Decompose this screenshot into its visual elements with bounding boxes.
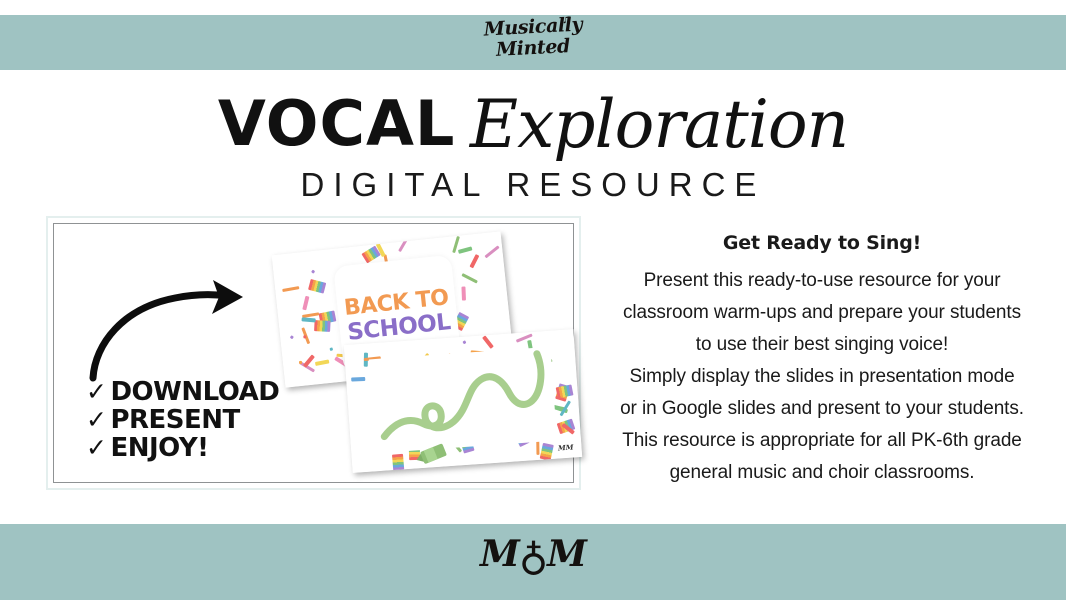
- checklist-label-download: DOWNLOAD: [110, 377, 279, 407]
- checklist-label-enjoy: ENJOY!: [110, 433, 208, 463]
- list-item: ✓DOWNLOAD: [86, 378, 279, 406]
- check-icon: ✓: [86, 433, 106, 462]
- copy-paragraph-2-line-4: general music and choir classrooms.: [604, 457, 1040, 489]
- monogram-left-m: M: [480, 533, 519, 575]
- list-item: ✓PRESENT: [86, 406, 279, 434]
- copy-heading: Get Ready to Sing!: [604, 232, 1040, 254]
- copy-paragraph-2-line-2: or in Google slides and present to your …: [604, 393, 1040, 425]
- list-item: ✓ENJOY!: [86, 434, 279, 462]
- title-bold-word: VOCAL: [218, 87, 456, 160]
- brand-monogram-bottom: M♁M: [0, 536, 1066, 577]
- treble-clef-icon: ♁: [519, 533, 547, 580]
- page-title: VOCAL Exploration: [0, 92, 1066, 158]
- slide-canvas: [369, 347, 557, 453]
- copy-paragraph-1-line-1: Present this ready-to-use resource for y…: [604, 265, 1040, 297]
- check-icon: ✓: [86, 405, 106, 434]
- monogram-right-m: M: [547, 533, 586, 575]
- feature-checklist: ✓DOWNLOAD ✓PRESENT ✓ENJOY!: [86, 378, 279, 462]
- slide-mockup-front: MM: [344, 329, 582, 473]
- page-subtitle: DIGITAL RESOURCE: [0, 168, 1066, 201]
- copy-paragraph-1-line-2: classroom warm-ups and prepare your stud…: [604, 297, 1040, 329]
- description-block: Get Ready to Sing! Present this ready-to…: [604, 232, 1040, 489]
- slide-signature: MM: [558, 442, 574, 452]
- check-icon: ✓: [86, 377, 106, 406]
- curved-arrow-icon: [85, 278, 255, 383]
- copy-paragraph-2-line-3: This resource is appropriate for all PK-…: [604, 425, 1040, 457]
- title-script-word: Exploration: [470, 86, 848, 163]
- copy-paragraph-2-line-1: Simply display the slides in presentatio…: [604, 361, 1040, 393]
- brand-logo-top: ♫ Musically Minted: [0, 18, 1066, 58]
- copy-paragraph-1-line-3: to use their best singing voice!: [604, 329, 1040, 361]
- vocal-exploration-squiggle: [369, 347, 557, 453]
- checklist-label-present: PRESENT: [110, 405, 239, 435]
